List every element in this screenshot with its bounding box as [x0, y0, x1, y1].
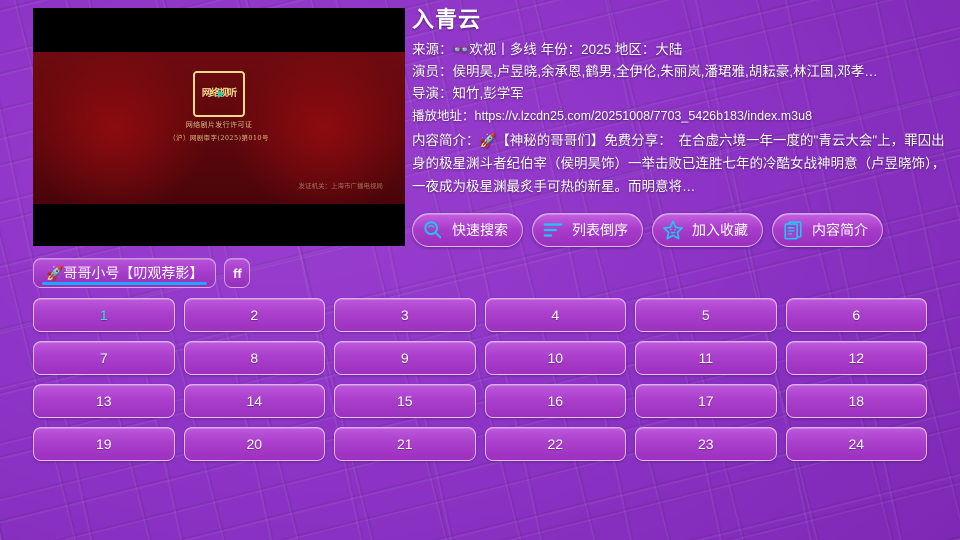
episode-button[interactable]: 13: [33, 384, 175, 418]
year-label: 年份：: [541, 42, 582, 57]
license-line-2: （沪）网剧审字(2025)第010号: [169, 132, 269, 142]
region-value: 大陆: [655, 42, 682, 57]
episode-button[interactable]: 7: [33, 341, 175, 375]
episode-button[interactable]: 16: [485, 384, 627, 418]
episode-button[interactable]: 23: [635, 427, 777, 461]
sort-icon: [542, 219, 564, 241]
episode-button[interactable]: 8: [184, 341, 326, 375]
source-tab-0[interactable]: 🚀哥哥小号【叨观荐影】: [33, 258, 216, 288]
episode-grid: 123456789101112131415161718192021222324: [33, 298, 927, 461]
source-label: 来源：: [412, 42, 453, 57]
source-tab-row: 🚀哥哥小号【叨观荐影】 ff: [33, 258, 250, 288]
source-tab-1[interactable]: ff: [224, 258, 250, 288]
description-value: 🚀【神秘的哥哥们】免费分享： 在合虚六境一年一度的"青云大会"上，罪囚出身的极星…: [412, 133, 945, 194]
actors-line: 演员：侯明昊,卢昱晓,余承恩,鹤男,全伊伦,朱丽岚,潘珺雅,胡耘豪,林江国,邓孝…: [412, 61, 950, 83]
director-label: 导演：: [412, 86, 453, 101]
source-value: 👓欢视丨多线: [453, 42, 537, 57]
episode-button[interactable]: 3: [334, 298, 476, 332]
action-button-row: 快速搜索 列表倒序 加入收藏: [412, 213, 883, 247]
quick-search-button[interactable]: 快速搜索: [412, 213, 523, 247]
episode-button[interactable]: 12: [786, 341, 928, 375]
episode-button[interactable]: 6: [786, 298, 928, 332]
source-year-region-line: 来源：👓欢视丨多线 年份：2025 地区：大陆: [412, 39, 950, 61]
add-favorite-label: 加入收藏: [692, 220, 748, 240]
document-icon: [782, 219, 804, 241]
license-line-1: 网络剧片发行许可证: [186, 120, 253, 130]
episode-button[interactable]: 20: [184, 427, 326, 461]
episode-button[interactable]: 4: [485, 298, 627, 332]
license-seal-icon: 网络视听: [193, 71, 245, 117]
video-frame: 网络视听 网络剧片发行许可证 （沪）网剧审字(2025)第010号 发证机关：上…: [33, 52, 405, 204]
episode-button[interactable]: 1: [33, 298, 175, 332]
url-value: https://v.lzcdn25.com/20251008/7703_5426…: [475, 109, 813, 123]
region-label: 地区：: [615, 42, 656, 57]
app-root: 网络视听 网络剧片发行许可证 （沪）网剧审字(2025)第010号 发证机关：上…: [0, 0, 960, 540]
episode-button[interactable]: 15: [334, 384, 476, 418]
reverse-list-label: 列表倒序: [572, 220, 628, 240]
actors-label: 演员：: [412, 64, 453, 79]
page-title: 入青云: [412, 8, 950, 32]
episode-button[interactable]: 11: [635, 341, 777, 375]
episode-button[interactable]: 18: [786, 384, 928, 418]
episode-button[interactable]: 2: [184, 298, 326, 332]
reverse-list-button[interactable]: 列表倒序: [532, 213, 643, 247]
actors-value: 侯明昊,卢昱晓,余承恩,鹤男,全伊伦,朱丽岚,潘珺雅,胡耘豪,林江国,邓孝…: [453, 64, 878, 79]
url-label: 播放地址：: [412, 109, 475, 123]
playback-url-line[interactable]: 播放地址：https://v.lzcdn25.com/20251008/7703…: [412, 105, 950, 128]
episode-button[interactable]: 24: [786, 427, 928, 461]
episode-button[interactable]: 10: [485, 341, 627, 375]
director-value: 知竹,彭学军: [453, 86, 524, 101]
episode-button[interactable]: 9: [334, 341, 476, 375]
source-tab-1-label: ff: [233, 266, 242, 281]
director-line: 导演：知竹,彭学军: [412, 83, 950, 105]
description-label: 内容简介：: [412, 133, 480, 148]
quick-search-label: 快速搜索: [452, 220, 508, 240]
year-value: 2025: [581, 42, 611, 57]
episode-button[interactable]: 21: [334, 427, 476, 461]
episode-button[interactable]: 22: [485, 427, 627, 461]
episode-button[interactable]: 14: [184, 384, 326, 418]
content-summary-button[interactable]: 内容简介: [772, 213, 883, 247]
license-issuer: 发证机关：上海市广播电视局: [299, 180, 384, 190]
media-info-panel: 入青云 来源：👓欢视丨多线 年份：2025 地区：大陆 演员：侯明昊,卢昱晓,余…: [412, 8, 950, 198]
source-tab-0-label: 🚀哥哥小号【叨观荐影】: [46, 263, 203, 283]
content-summary-label: 内容简介: [812, 220, 868, 240]
description-block: 内容简介：🚀【神秘的哥哥们】免费分享： 在合虚六境一年一度的"青云大会"上，罪囚…: [412, 129, 950, 198]
star-icon: [662, 219, 684, 241]
video-player[interactable]: 网络视听 网络剧片发行许可证 （沪）网剧审字(2025)第010号 发证机关：上…: [33, 8, 405, 246]
episode-button[interactable]: 5: [635, 298, 777, 332]
episode-button[interactable]: 17: [635, 384, 777, 418]
search-icon: [422, 219, 444, 241]
play-triangle-icon: [218, 90, 224, 98]
episode-button[interactable]: 19: [33, 427, 175, 461]
add-favorite-button[interactable]: 加入收藏: [652, 213, 763, 247]
